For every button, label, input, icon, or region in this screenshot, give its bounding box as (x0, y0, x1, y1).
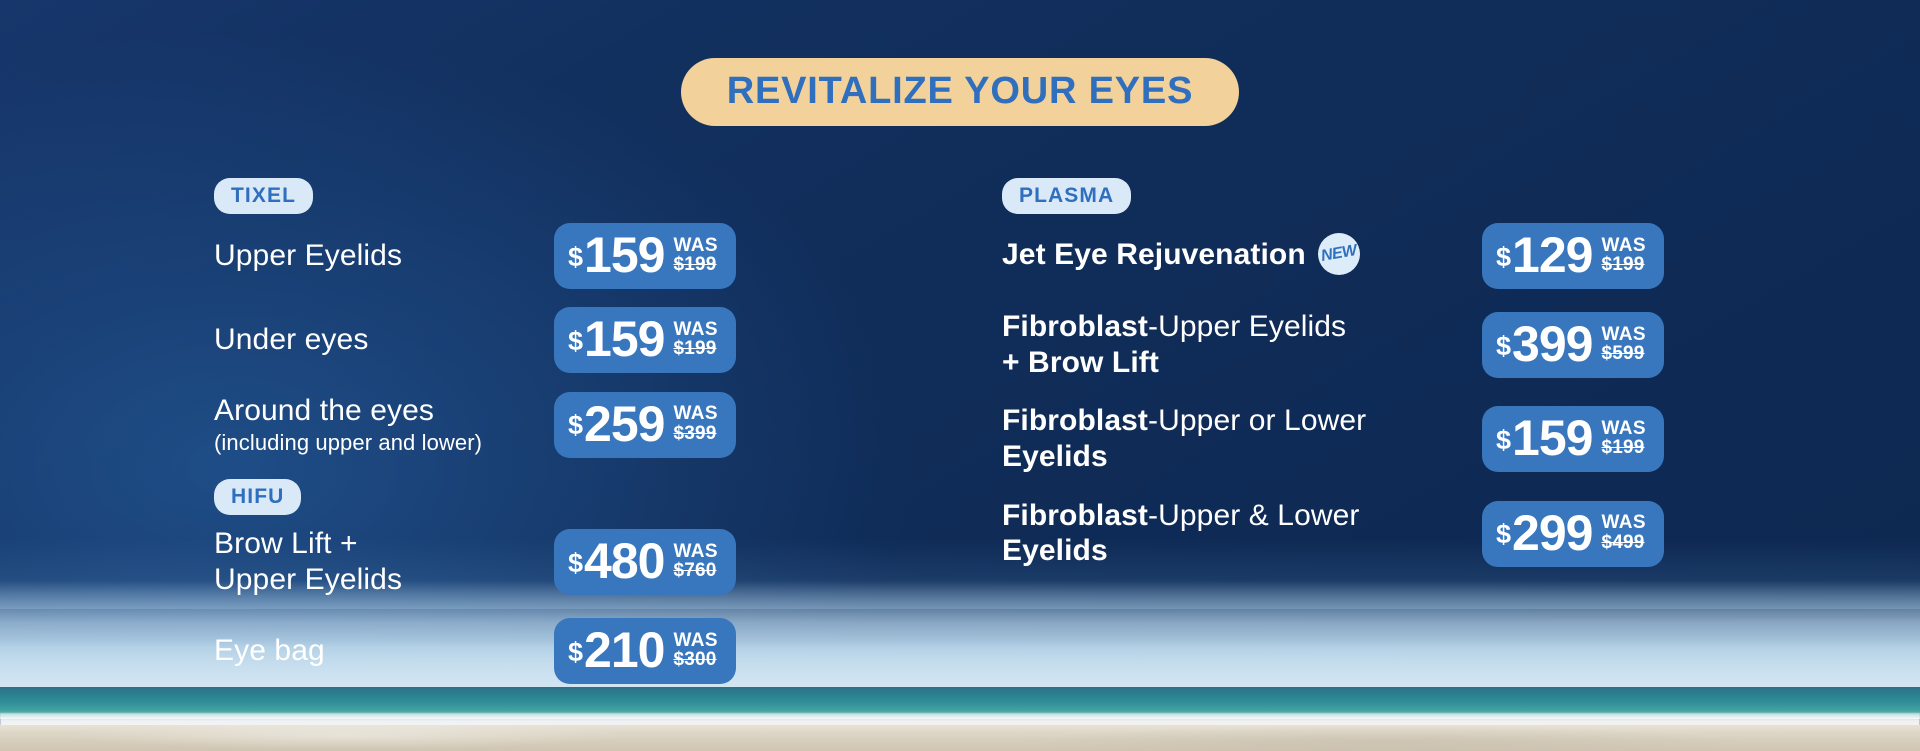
category-badge-hifu-row: HIFU (214, 479, 854, 515)
service-row[interactable]: Fibroblast-Upper & Lower Eyelids $ 299 W… (1002, 499, 1762, 569)
services-column-right: PLASMA Jet Eye RejuvenationNEW $ 129 WAS… (1002, 178, 1762, 579)
service-row[interactable]: Brow Lift + Upper Eyelids $ 480 WAS $760 (214, 527, 854, 597)
service-name: Under eyes (214, 323, 559, 358)
category-badge-plasma: PLASMA (1002, 178, 1131, 214)
service-name-subtitle: (including upper and lower) (214, 430, 559, 455)
price-pill: $ 210 WAS $300 (554, 618, 736, 684)
currency-symbol: $ (1496, 427, 1511, 454)
service-name-suffix: -Upper & Lower (1148, 499, 1360, 532)
service-name-text: Upper Eyelids (214, 239, 402, 272)
price-pill: $ 159 WAS $199 (554, 307, 736, 373)
page-title: REVITALIZE YOUR EYES (727, 72, 1193, 110)
service-name-text: Around the eyes (214, 394, 434, 427)
old-price: $199 (673, 339, 717, 358)
was-label: WAS (673, 236, 717, 255)
old-price: $399 (673, 424, 717, 443)
old-price: $599 (1601, 344, 1645, 363)
service-name: Brow Lift + Upper Eyelids (214, 527, 559, 597)
header-pill: REVITALIZE YOUR EYES (681, 58, 1239, 126)
service-row[interactable]: Around the eyes (including upper and low… (214, 394, 854, 455)
currency-symbol: $ (1496, 521, 1511, 548)
service-name: Fibroblast-Upper & Lower Eyelids (1002, 499, 1402, 569)
service-name-text: Eye bag (214, 634, 325, 667)
price-pill: $ 129 WAS $199 (1482, 223, 1664, 289)
service-name-suffix: -Upper or Lower (1148, 404, 1366, 437)
was-price-block: WAS $199 (1601, 419, 1645, 458)
promo-banner: REVITALIZE YOUR EYES TIXEL Upper Eyelids… (0, 0, 1920, 751)
service-name: Around the eyes (including upper and low… (214, 394, 559, 455)
service-name-text: Jet Eye Rejuvenation (1002, 238, 1306, 271)
services-column-left: TIXEL Upper Eyelids $ 159 WAS $199 (214, 178, 854, 691)
price-pill: $ 159 WAS $199 (1482, 406, 1664, 472)
header-banner: REVITALIZE YOUR EYES (0, 58, 1920, 126)
service-name: Eye bag (214, 634, 559, 669)
service-name: Fibroblast-Upper Eyelids + Brow Lift (1002, 310, 1402, 380)
service-row[interactable]: Fibroblast-Upper Eyelids + Brow Lift $ 3… (1002, 310, 1762, 380)
service-name-text: Fibroblast (1002, 310, 1148, 343)
currency-symbol: $ (1496, 333, 1511, 360)
price-amount: 299 (1512, 508, 1592, 558)
old-price: $199 (1601, 438, 1645, 457)
old-price: $199 (1601, 255, 1645, 274)
price-amount: 210 (584, 625, 664, 675)
was-label: WAS (1601, 513, 1645, 532)
old-price: $499 (1601, 533, 1645, 552)
service-name-text: Fibroblast (1002, 499, 1148, 532)
was-label: WAS (673, 404, 717, 423)
category-badge-plasma-row: PLASMA (1002, 178, 1762, 214)
service-row[interactable]: Upper Eyelids $ 159 WAS $199 (214, 226, 854, 286)
new-badge-icon: NEW (1318, 233, 1360, 275)
was-price-block: WAS $300 (673, 631, 717, 670)
category-badge-tixel: TIXEL (214, 178, 313, 214)
was-price-block: WAS $199 (673, 236, 717, 275)
service-name-subtitle: Eyelids (1002, 440, 1402, 475)
price-amount: 159 (584, 230, 664, 280)
was-label: WAS (673, 631, 717, 650)
was-price-block: WAS $499 (1601, 513, 1645, 552)
service-row[interactable]: Fibroblast-Upper or Lower Eyelids $ 159 … (1002, 404, 1762, 474)
price-amount: 399 (1512, 319, 1592, 369)
price-amount: 259 (584, 399, 664, 449)
service-name-subtitle: Upper Eyelids (214, 563, 559, 598)
was-price-block: WAS $760 (673, 542, 717, 581)
service-name-text: Brow Lift + (214, 527, 358, 560)
was-label: WAS (1601, 236, 1645, 255)
old-price: $760 (673, 561, 717, 580)
service-row[interactable]: Jet Eye RejuvenationNEW $ 129 WAS $199 (1002, 226, 1762, 286)
was-label: WAS (673, 320, 717, 339)
service-name-text: Fibroblast (1002, 404, 1148, 437)
price-amount: 480 (584, 536, 664, 586)
service-name: Upper Eyelids (214, 239, 559, 274)
price-pill: $ 480 WAS $760 (554, 529, 736, 595)
was-price-block: WAS $599 (1601, 325, 1645, 364)
service-name-subtitle: + Brow Lift (1002, 346, 1402, 381)
category-badge-tixel-row: TIXEL (214, 178, 854, 214)
price-pill: $ 159 WAS $199 (554, 223, 736, 289)
service-name: Jet Eye RejuvenationNEW (1002, 235, 1402, 277)
new-badge-label: NEW (1320, 243, 1358, 265)
currency-symbol: $ (568, 412, 583, 439)
currency-symbol: $ (568, 550, 583, 577)
category-badge-hifu: HIFU (214, 479, 301, 515)
was-label: WAS (673, 542, 717, 561)
service-name-suffix: -Upper Eyelids (1148, 310, 1346, 343)
was-label: WAS (1601, 419, 1645, 438)
price-pill: $ 399 WAS $599 (1482, 312, 1664, 378)
service-name-text: Under eyes (214, 323, 368, 356)
currency-symbol: $ (568, 639, 583, 666)
was-price-block: WAS $399 (673, 404, 717, 443)
old-price: $199 (673, 255, 717, 274)
currency-symbol: $ (568, 328, 583, 355)
was-price-block: WAS $199 (673, 320, 717, 359)
service-name: Fibroblast-Upper or Lower Eyelids (1002, 404, 1402, 474)
was-price-block: WAS $199 (1601, 236, 1645, 275)
old-price: $300 (673, 650, 717, 669)
price-pill: $ 259 WAS $399 (554, 392, 736, 458)
currency-symbol: $ (568, 244, 583, 271)
price-amount: 159 (1512, 413, 1592, 463)
price-amount: 129 (1512, 230, 1592, 280)
service-row[interactable]: Eye bag $ 210 WAS $300 (214, 621, 854, 681)
price-amount: 159 (584, 314, 664, 364)
price-pill: $ 299 WAS $499 (1482, 501, 1664, 567)
currency-symbol: $ (1496, 244, 1511, 271)
service-row[interactable]: Under eyes $ 159 WAS $199 (214, 310, 854, 370)
was-label: WAS (1601, 325, 1645, 344)
service-name-subtitle: Eyelids (1002, 534, 1402, 569)
